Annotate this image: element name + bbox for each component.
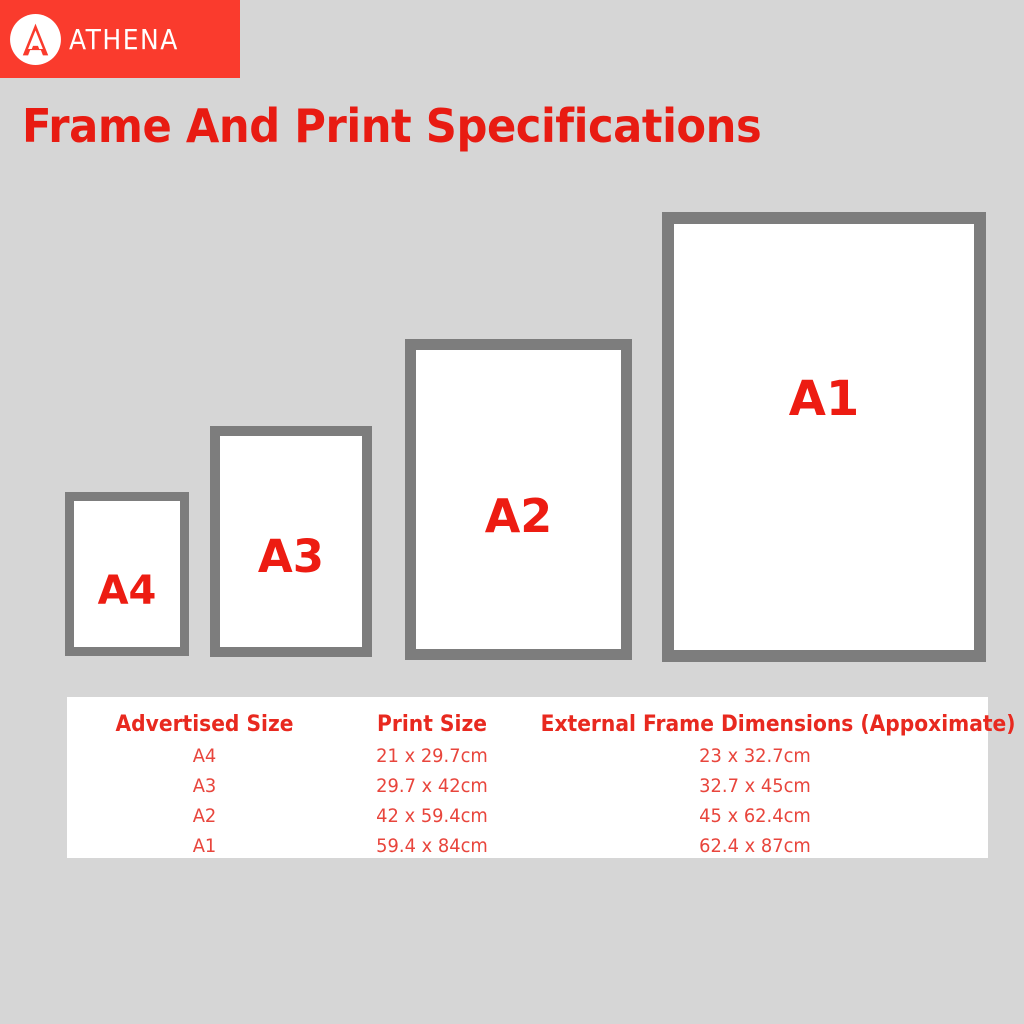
brand-banner: ATHENA — [0, 0, 240, 78]
frame-label-a3: A3 — [258, 534, 324, 579]
cell-advertised-size: A1 — [75, 835, 334, 857]
athena-a-monogram-icon — [9, 13, 62, 66]
column-header-print-size: Print Size — [349, 712, 515, 737]
cell-advertised-size: A4 — [75, 745, 334, 767]
cell-external-frame: 23 x 32.7cm — [536, 745, 974, 767]
brand-wordmark: ATHENA — [69, 25, 179, 53]
frame-preview-a4: A4 — [65, 492, 189, 656]
cell-print-size: 29.7 x 42cm — [347, 775, 516, 797]
cell-external-frame: 32.7 x 45cm — [536, 775, 974, 797]
specifications-table: Advertised Size Print Size External Fram… — [67, 697, 988, 858]
column-header-external-frame-dimensions: External Frame Dimensions (Appoximate) — [541, 712, 970, 737]
cell-advertised-size: A2 — [75, 805, 334, 827]
table-row: A4 21 x 29.7cm 23 x 32.7cm — [67, 737, 988, 767]
table-row: A2 42 x 59.4cm 45 x 62.4cm — [67, 797, 988, 827]
frame-preview-a2: A2 — [405, 339, 632, 660]
frame-preview-a1: A1 — [662, 212, 986, 662]
cell-external-frame: 45 x 62.4cm — [536, 805, 974, 827]
cell-print-size: 21 x 29.7cm — [347, 745, 516, 767]
page-title: Frame And Print Specifications — [22, 101, 761, 152]
column-header-advertised-size: Advertised Size — [78, 712, 331, 737]
frame-label-a4: A4 — [98, 571, 157, 611]
frame-label-a2: A2 — [485, 493, 553, 539]
cell-print-size: 59.4 x 84cm — [347, 835, 516, 857]
frame-label-a1: A1 — [789, 375, 860, 423]
cell-advertised-size: A3 — [75, 775, 334, 797]
cell-print-size: 42 x 59.4cm — [347, 805, 516, 827]
frame-preview-a3: A3 — [210, 426, 372, 657]
cell-external-frame: 62.4 x 87cm — [536, 835, 974, 857]
table-header-row: Advertised Size Print Size External Fram… — [67, 697, 988, 737]
table-row: A3 29.7 x 42cm 32.7 x 45cm — [67, 767, 988, 797]
table-row: A1 59.4 x 84cm 62.4 x 87cm — [67, 827, 988, 857]
